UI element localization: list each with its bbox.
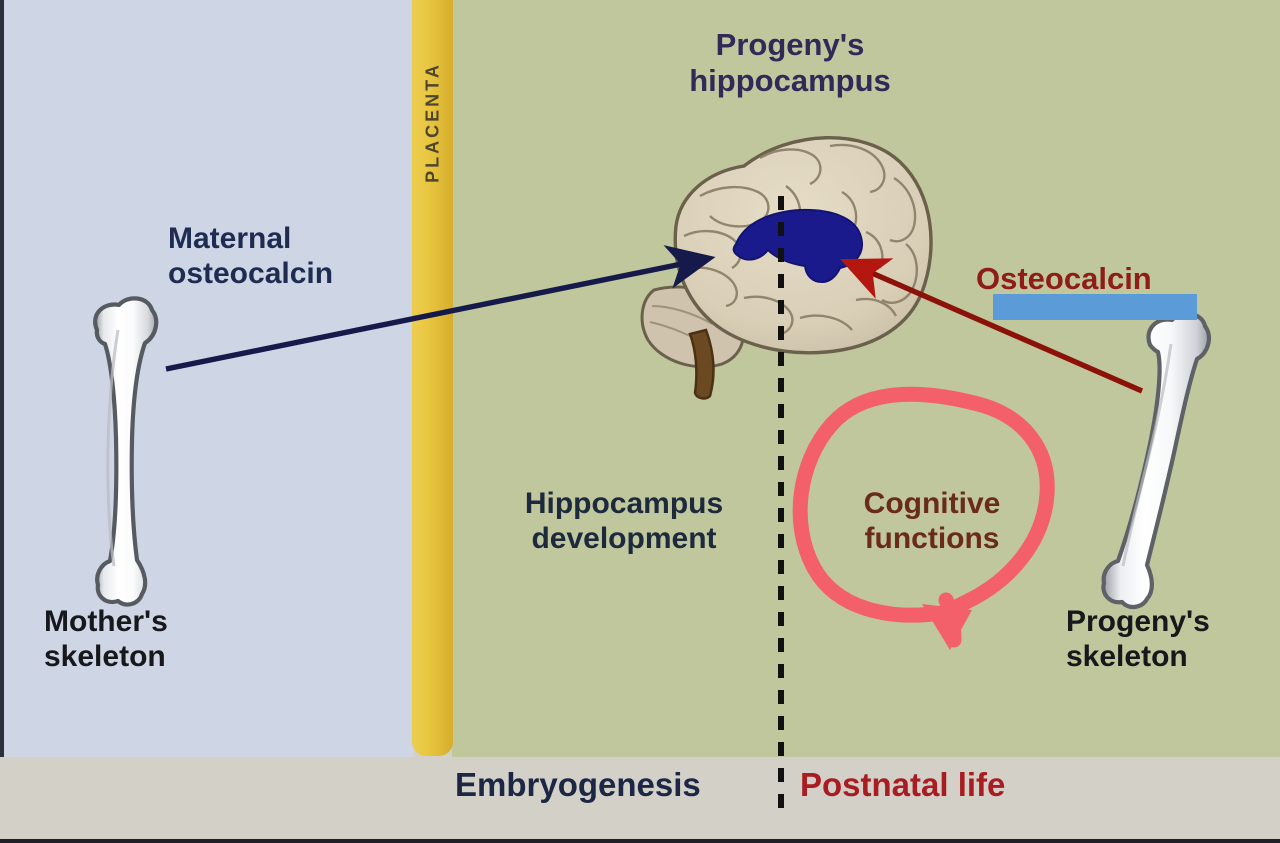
mothers-skeleton-label: Mother's skeleton	[44, 605, 168, 674]
progeny-skeleton-label: Progeny's skeleton	[1066, 605, 1210, 674]
left-border	[0, 0, 4, 757]
cognitive-functions-label: Cognitive functions	[836, 487, 1028, 556]
osteocalcin-label: Osteocalcin	[976, 261, 1152, 297]
placenta-column: PLACENTA	[412, 0, 453, 756]
figure-canvas: PLACENTA	[0, 0, 1280, 843]
progeny-hippocampus-label: Progeny's hippocampus	[618, 27, 962, 98]
osteocalcin-highlight-bar	[993, 294, 1197, 320]
postnatal-life-label: Postnatal life	[800, 766, 1005, 804]
hippocampus-development-label: Hippocampus development	[492, 487, 756, 556]
embryogenesis-label: Embryogenesis	[455, 766, 701, 804]
placenta-label: PLACENTA	[422, 62, 443, 183]
maternal-osteocalcin-label: Maternal osteocalcin	[168, 222, 333, 291]
bottom-border	[0, 839, 1280, 843]
